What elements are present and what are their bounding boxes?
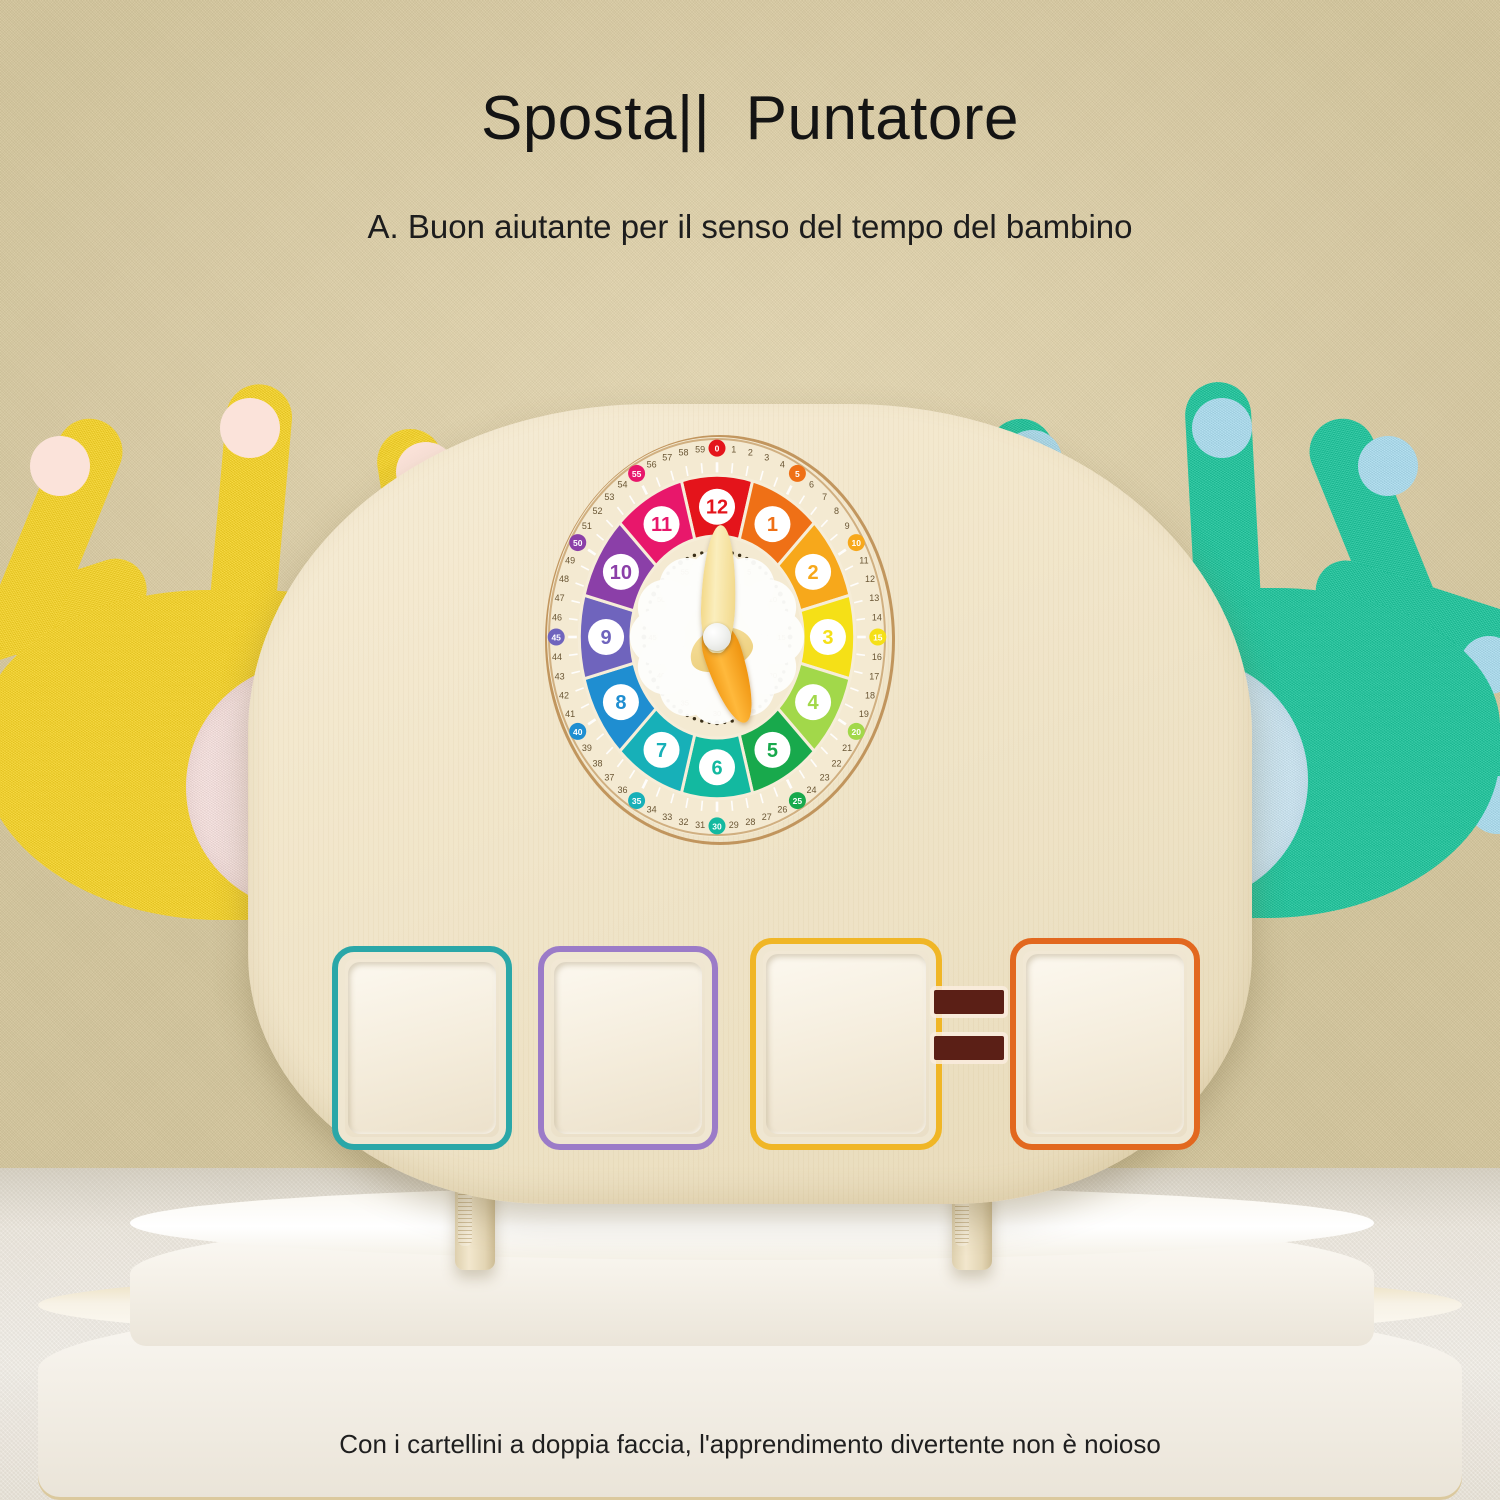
- svg-text:44: 44: [552, 652, 562, 662]
- svg-text:52: 52: [592, 506, 602, 516]
- svg-text:6: 6: [809, 479, 814, 489]
- svg-text:17: 17: [869, 671, 879, 681]
- svg-text:4: 4: [780, 460, 785, 470]
- svg-text:27: 27: [762, 812, 772, 822]
- card-slot-1-recess: [348, 962, 496, 1134]
- svg-text:5: 5: [767, 740, 778, 762]
- svg-text:11: 11: [651, 514, 672, 536]
- svg-text:30: 30: [712, 821, 722, 831]
- svg-text:1: 1: [731, 444, 736, 454]
- teal-nail-2: [1192, 398, 1252, 458]
- svg-text:33: 33: [662, 812, 672, 822]
- card-slot-4-recess: [1026, 954, 1184, 1134]
- svg-text:12: 12: [865, 574, 875, 584]
- svg-text:35: 35: [632, 796, 642, 806]
- card-slot-2-recess: [554, 962, 702, 1134]
- svg-text:29: 29: [729, 820, 739, 830]
- svg-text:8: 8: [834, 506, 839, 516]
- svg-text:39: 39: [582, 743, 592, 753]
- equals-bar-top: [934, 990, 1004, 1014]
- svg-text:7: 7: [656, 740, 667, 762]
- svg-text:0: 0: [715, 444, 720, 454]
- svg-text:10: 10: [610, 562, 632, 584]
- svg-text:55: 55: [632, 469, 642, 479]
- card-slot-3-recess: [766, 954, 926, 1134]
- equals-sign: [934, 990, 1004, 1060]
- svg-text:1: 1: [767, 514, 778, 536]
- equals-bar-bottom: [934, 1036, 1004, 1060]
- svg-text:14: 14: [872, 612, 882, 622]
- svg-text:58: 58: [679, 447, 689, 457]
- svg-text:4: 4: [808, 692, 820, 714]
- svg-text:8: 8: [615, 692, 626, 714]
- svg-text:49: 49: [565, 555, 575, 565]
- svg-text:59: 59: [695, 444, 705, 454]
- svg-text:11: 11: [859, 555, 868, 565]
- svg-text:34: 34: [647, 805, 657, 815]
- svg-text:42: 42: [559, 691, 569, 701]
- card-slot-2[interactable]: [538, 946, 718, 1150]
- svg-text:9: 9: [600, 627, 611, 649]
- product-photo-stage: 0123456789101112131415161718192021222324…: [0, 0, 1500, 1500]
- svg-text:19: 19: [859, 709, 869, 719]
- svg-text:32: 32: [679, 817, 689, 827]
- svg-text:24: 24: [807, 785, 817, 795]
- svg-text:10: 10: [852, 538, 862, 548]
- svg-text:12: 12: [706, 497, 728, 519]
- svg-text:21: 21: [842, 743, 852, 753]
- svg-text:25: 25: [793, 796, 803, 806]
- svg-text:53: 53: [604, 492, 614, 502]
- svg-text:5: 5: [795, 469, 800, 479]
- svg-text:51: 51: [582, 521, 592, 531]
- card-slot-1[interactable]: [332, 946, 512, 1150]
- svg-text:7: 7: [822, 492, 827, 502]
- svg-text:9: 9: [845, 521, 850, 531]
- clock-dial-assembly[interactable]: 0123456789101112131415161718192021222324…: [545, 435, 889, 839]
- svg-text:6: 6: [711, 757, 722, 779]
- svg-text:41: 41: [565, 709, 575, 719]
- svg-text:46: 46: [552, 612, 562, 622]
- page-title: Sposta|| Puntatore: [0, 86, 1500, 151]
- svg-text:36: 36: [617, 785, 627, 795]
- svg-text:50: 50: [573, 538, 583, 548]
- svg-text:16: 16: [872, 652, 882, 662]
- svg-text:48: 48: [559, 574, 569, 584]
- svg-text:3: 3: [822, 627, 833, 649]
- svg-text:13: 13: [869, 593, 879, 603]
- svg-text:28: 28: [745, 817, 755, 827]
- svg-text:3: 3: [764, 453, 769, 463]
- svg-text:56: 56: [647, 460, 657, 470]
- svg-text:22: 22: [832, 759, 842, 769]
- svg-text:20: 20: [852, 727, 862, 737]
- svg-text:54: 54: [617, 479, 627, 489]
- page-subtitle: A. Buon aiutante per il senso del tempo …: [0, 208, 1500, 246]
- svg-text:57: 57: [662, 453, 672, 463]
- svg-text:31: 31: [695, 820, 705, 830]
- card-slot-3[interactable]: [750, 938, 942, 1150]
- svg-text:45: 45: [551, 632, 561, 642]
- svg-text:38: 38: [592, 759, 602, 769]
- svg-text:26: 26: [777, 805, 787, 815]
- svg-text:40: 40: [573, 727, 583, 737]
- yellow-nail-2: [220, 398, 280, 458]
- svg-text:23: 23: [820, 773, 830, 783]
- teal-nail-3: [1358, 436, 1418, 496]
- svg-text:43: 43: [555, 671, 565, 681]
- svg-text:15: 15: [873, 632, 883, 642]
- card-slot-4[interactable]: [1010, 938, 1200, 1150]
- svg-text:2: 2: [748, 447, 753, 457]
- svg-text:37: 37: [604, 773, 614, 783]
- svg-text:18: 18: [865, 691, 875, 701]
- clock-pivot: [703, 623, 731, 651]
- yellow-nail-3: [30, 436, 90, 496]
- page-caption: Con i cartellini a doppia faccia, l'appr…: [0, 1429, 1500, 1460]
- svg-text:47: 47: [555, 593, 565, 603]
- svg-text:2: 2: [808, 562, 819, 584]
